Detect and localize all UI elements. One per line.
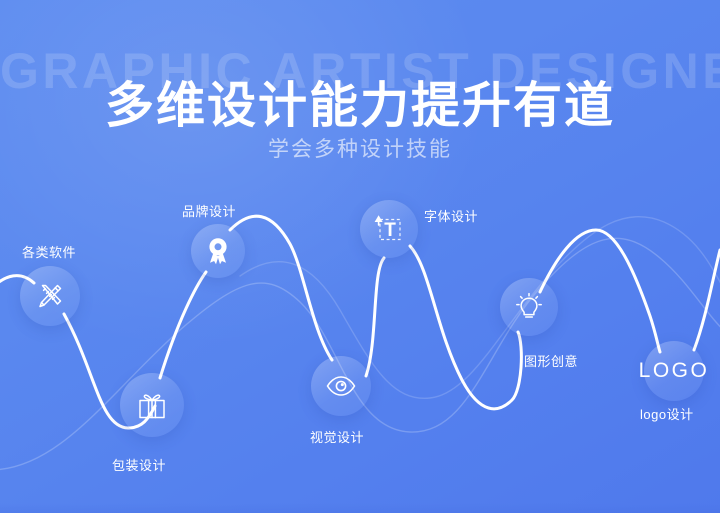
node-font[interactable]: T xyxy=(360,200,418,258)
node-brand-label: 品牌设计 xyxy=(182,201,236,220)
node-software[interactable] xyxy=(20,266,80,326)
pencil-ruler-icon xyxy=(33,279,67,313)
award-medal-icon xyxy=(202,235,234,267)
node-font-label: 字体设计 xyxy=(424,206,478,225)
node-software-label: 各类软件 xyxy=(22,242,76,261)
node-creative[interactable] xyxy=(500,278,558,336)
node-logo[interactable]: LOGO xyxy=(644,341,704,401)
node-visual-label: 视觉设计 xyxy=(310,427,364,446)
node-packaging[interactable] xyxy=(120,373,184,437)
text-t-icon: T xyxy=(369,209,409,249)
gift-box-icon xyxy=(133,386,171,424)
eye-icon xyxy=(323,368,359,404)
node-creative-label: 图形创意 xyxy=(524,351,578,370)
svg-text:T: T xyxy=(384,220,396,241)
node-packaging-label: 包装设计 xyxy=(112,455,166,474)
node-brand[interactable] xyxy=(191,224,245,278)
page-subtitle: 学会多种设计技能 xyxy=(0,133,720,163)
promo-banner: GRAPHIC ARTIST DESIGNER 各类软件 xyxy=(0,0,720,513)
logo-text-icon: LOGO xyxy=(639,359,710,383)
node-visual[interactable] xyxy=(311,356,371,416)
page-title: 多维设计能力提升有道 xyxy=(0,66,720,137)
node-logo-label: logo设计 xyxy=(640,404,694,423)
lightbulb-icon xyxy=(511,289,547,325)
